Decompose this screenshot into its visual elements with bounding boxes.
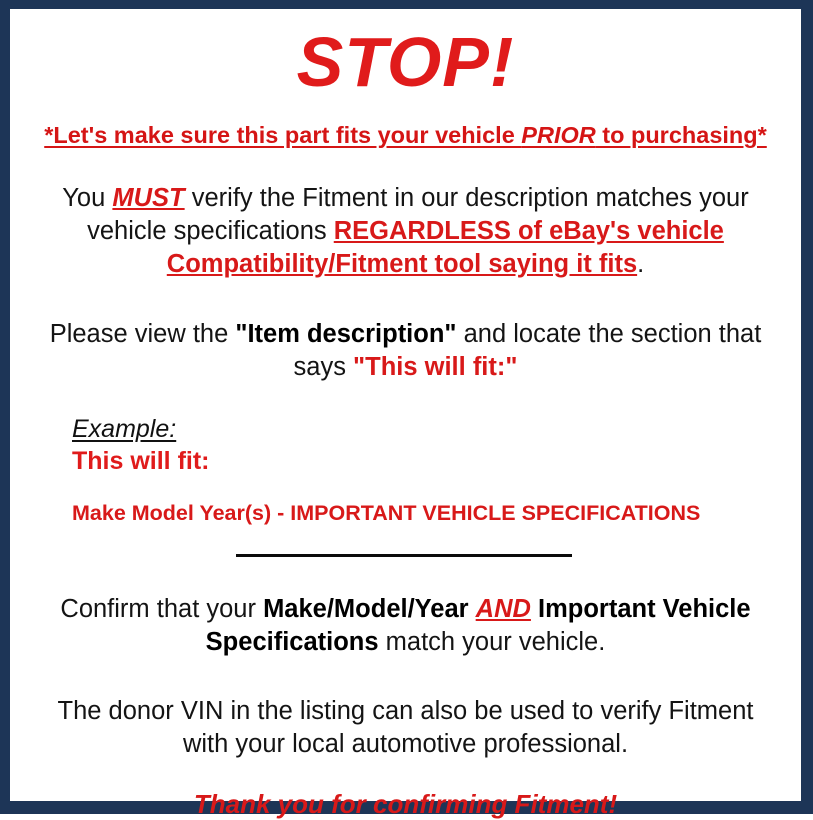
must-part3: . [637, 250, 644, 278]
tagline-emphasis-prior: PRIOR [521, 122, 595, 148]
confirm-part3 [531, 595, 538, 623]
notice-content: STOP! *Let's make sure this part fits yo… [10, 9, 801, 801]
and-emphasis: AND [476, 595, 531, 623]
example-block: Example: This will fit: Make Model Year(… [24, 414, 787, 526]
make-model-year-emphasis: Make/Model/Year [263, 595, 469, 623]
example-spec-line: Make Model Year(s) - IMPORTANT VEHICLE S… [72, 500, 787, 526]
confirm-part2 [469, 595, 476, 623]
divider [24, 548, 787, 562]
view-part1: Please view the [50, 320, 236, 348]
item-description-emphasis: "Item description" [235, 320, 456, 348]
stop-heading: STOP! [24, 9, 787, 101]
divider-rule [236, 554, 572, 557]
paragraph-confirm: Confirm that your Make/Model/Year AND Im… [24, 593, 787, 659]
tagline: *Let's make sure this part fits your veh… [24, 121, 787, 149]
tagline-after: to purchasing* [596, 122, 767, 148]
this-will-fit-quote: "This will fit:" [353, 353, 517, 381]
example-label: Example: [72, 414, 176, 444]
must-emphasis: MUST [112, 184, 184, 212]
confirm-part1: Confirm that your [60, 595, 263, 623]
paragraph-donor-vin: The donor VIN in the listing can also be… [24, 695, 787, 761]
must-part1: You [62, 184, 112, 212]
confirm-part4: match your vehicle. [379, 628, 606, 656]
paragraph-must-verify: You MUST verify the Fitment in our descr… [24, 182, 787, 281]
paragraph-item-description: Please view the "Item description" and l… [24, 318, 787, 384]
example-fit-heading: This will fit: [72, 446, 787, 476]
thanks-line: Thank you for confirming Fitment! [24, 788, 787, 820]
fitment-notice-card: STOP! *Let's make sure this part fits yo… [0, 0, 813, 814]
tagline-before: *Let's make sure this part fits your veh… [44, 122, 521, 148]
